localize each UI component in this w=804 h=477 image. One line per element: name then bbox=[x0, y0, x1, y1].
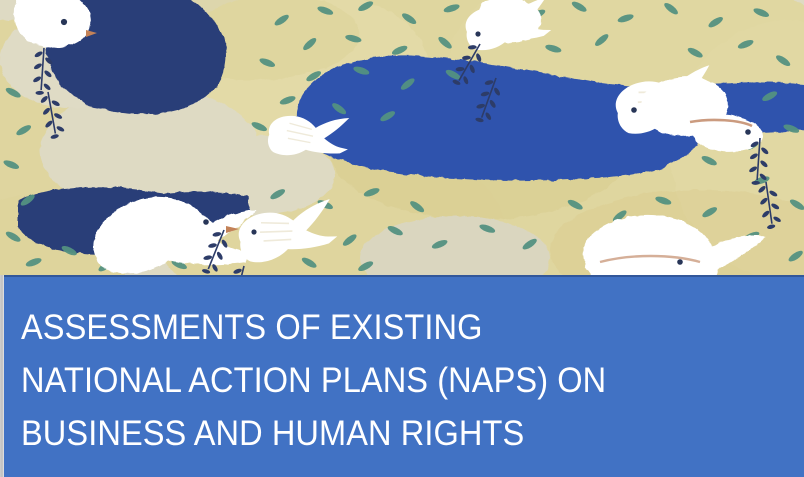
cover-title-line-1: ASSESSMENTS OF EXISTING bbox=[21, 301, 709, 354]
document-cover-page: ASSESSMENTS OF EXISTING NATIONAL ACTION … bbox=[0, 0, 804, 477]
illustration-canvas bbox=[0, 0, 804, 275]
cover-title: ASSESSMENTS OF EXISTING NATIONAL ACTION … bbox=[21, 301, 761, 460]
cover-title-line-3: BUSINESS AND HUMAN RIGHTS bbox=[21, 407, 709, 460]
page-edge-strip bbox=[0, 275, 4, 477]
title-band: ASSESSMENTS OF EXISTING NATIONAL ACTION … bbox=[0, 275, 804, 477]
cover-title-line-2: NATIONAL ACTION PLANS (NAPS) ON bbox=[21, 354, 709, 407]
illustration-grain-wash bbox=[0, 0, 804, 275]
cover-illustration bbox=[0, 0, 804, 275]
band-top-rule bbox=[0, 275, 804, 277]
